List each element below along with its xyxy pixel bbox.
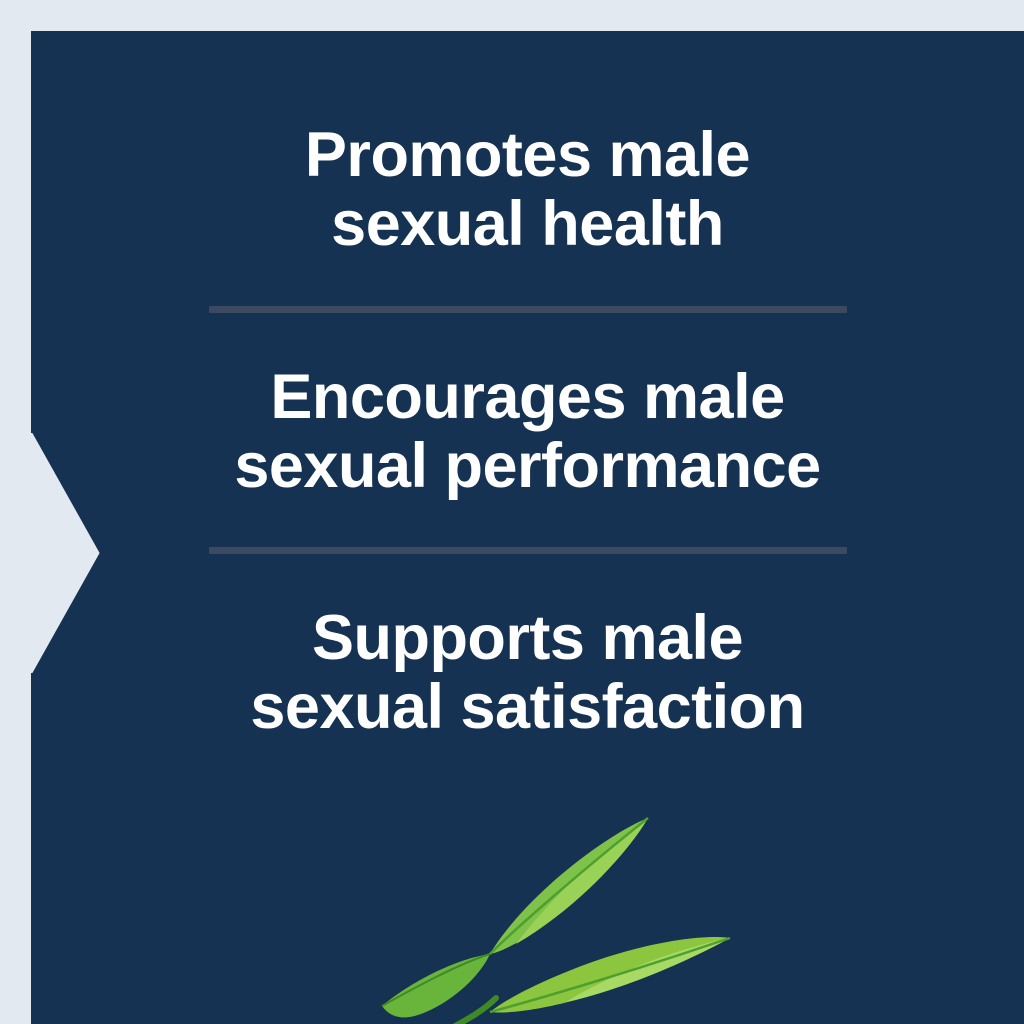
left-chevron-notch	[30, 433, 150, 673]
navy-panel	[31, 31, 1024, 1024]
product-benefits-graphic: Promotes male sexual health Encourages m…	[0, 0, 1024, 1024]
